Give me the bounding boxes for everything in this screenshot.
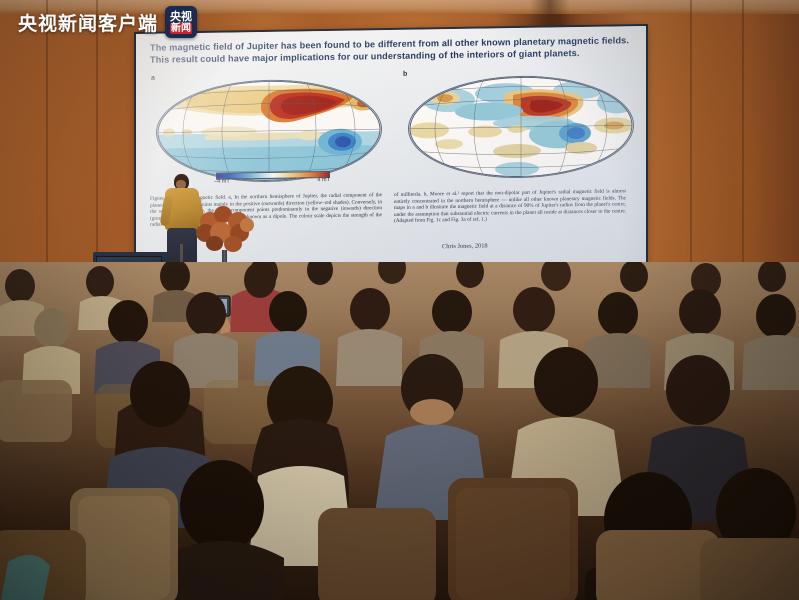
mollweide-map-b xyxy=(408,74,634,180)
colorbar-a-gradient xyxy=(216,171,330,180)
wall-panel-seam xyxy=(46,0,48,300)
map-a-field xyxy=(157,79,381,183)
figure-caption-right: of milliteslа. b, Moore et al.¹ report t… xyxy=(394,188,626,225)
panel-label-b: b xyxy=(403,71,407,78)
badge-line-2: 新闻 xyxy=(170,23,192,34)
map-panel-a: a xyxy=(144,70,392,189)
slide-title: The magnetic field of Jupiter has been f… xyxy=(150,34,630,66)
colorbar-a-min-label: –4 mT xyxy=(214,179,230,185)
badge-line-1: 央视 xyxy=(170,11,192,23)
conference-photo: The magnetic field of Jupiter has been f… xyxy=(0,0,799,600)
audience-crowd xyxy=(0,262,799,600)
flower-arrangement xyxy=(196,206,256,254)
audience-area xyxy=(0,262,799,600)
cctv-watermark: 央视新闻客户端 央视 新闻 xyxy=(18,6,197,38)
map-panel-b: b xyxy=(396,66,644,185)
colorbar-a-max-label: 4 mT xyxy=(317,177,330,183)
panel-label-a: a xyxy=(151,75,155,82)
mollweide-map-a xyxy=(156,78,382,184)
wall-panel-seam xyxy=(690,0,692,300)
figure-maps: a xyxy=(142,66,640,189)
slide-credit: Chris Jones, 2018 xyxy=(442,242,488,250)
map-b-field xyxy=(409,75,633,179)
cctv-news-badge: 央视 新闻 xyxy=(165,6,197,38)
wall-panel-seam xyxy=(742,0,744,300)
watermark-text: 央视新闻客户端 xyxy=(18,9,158,36)
colorbar-a: –4 mT 4 mT xyxy=(216,171,328,187)
